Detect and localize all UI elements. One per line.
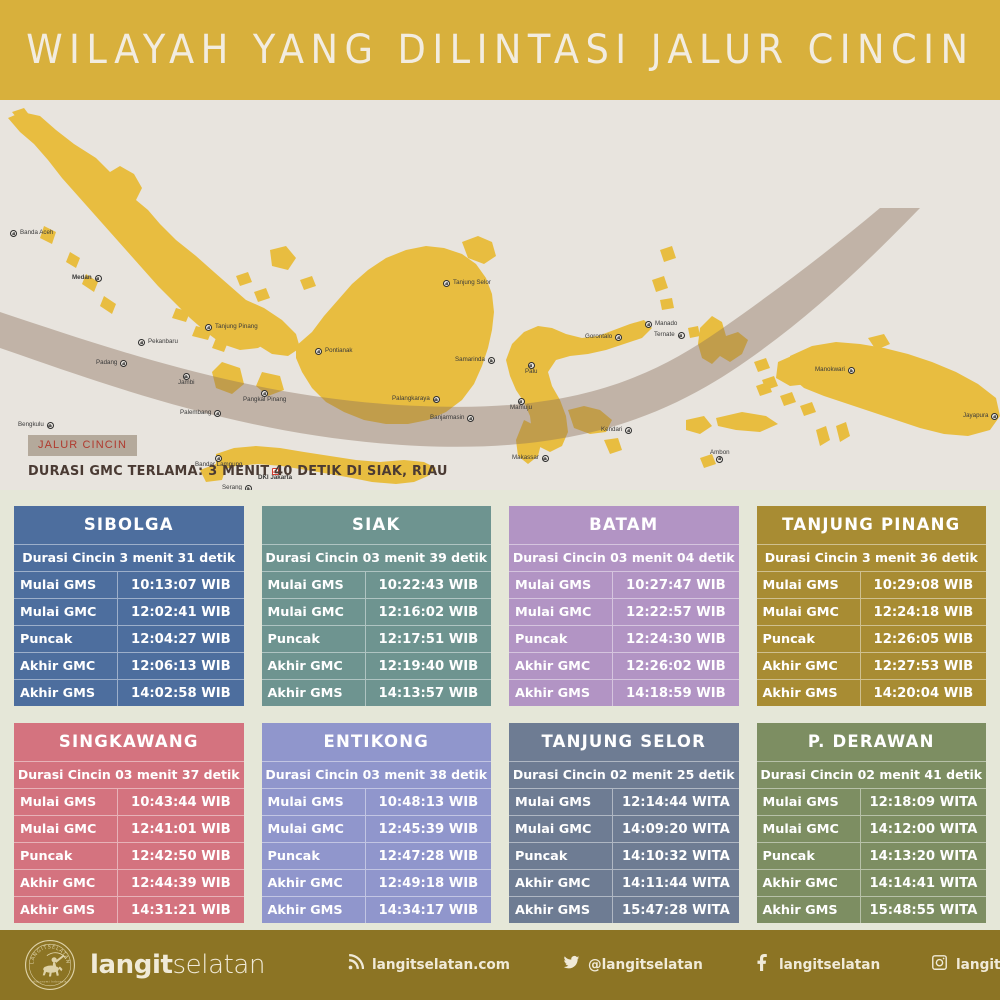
islands-aru	[816, 422, 850, 446]
row-label: Mulai GMC	[757, 822, 860, 837]
row-time-value: 10:27:47 WIB	[612, 572, 738, 598]
table-row: Akhir GMS14:20:04 WIB	[757, 679, 987, 706]
row-time-value: 12:02:41 WIB	[117, 599, 243, 625]
row-time-value: 10:22:43 WIB	[365, 572, 491, 598]
city-dot-icon	[716, 456, 723, 463]
city-label: Kendari	[601, 427, 622, 433]
brand-wordmark: langitselatan	[90, 950, 265, 980]
row-label: Mulai GMS	[509, 795, 612, 810]
map-city-marker: Serang	[222, 485, 252, 490]
social-link[interactable]: langitselatan.com	[347, 954, 519, 976]
legend-jalur-cincin: JALUR CINCIN	[28, 435, 137, 456]
map-city-marker: Banjarmasin	[430, 415, 474, 422]
city-label: Medan	[72, 275, 92, 281]
map-area: Banda AcehMedanPekanbaruPadangJambiPalem…	[0, 100, 1000, 490]
city-label: Manado	[655, 321, 677, 327]
row-time-value: 14:34:17 WIB	[365, 897, 491, 923]
twitter-icon	[563, 954, 580, 976]
city-dot-icon	[47, 422, 54, 429]
city-label: Jambi	[178, 380, 195, 386]
map-city-marker: Padang	[96, 360, 127, 367]
table-row: Akhir GMS14:18:59 WIB	[509, 679, 739, 706]
row-label: Puncak	[262, 632, 365, 647]
row-time-value: 12:19:40 WIB	[365, 653, 491, 679]
city-timing-cards: SIBOLGADurasi Cincin 3 menit 31 detikMul…	[0, 498, 1000, 930]
svg-text:LANGITSELATAN: LANGITSELATAN	[29, 944, 70, 964]
city-label: Pekanbaru	[148, 339, 178, 345]
card-duration: Durasi Cincin 3 menit 36 detik	[757, 544, 987, 571]
row-label: Mulai GMS	[262, 795, 365, 810]
card-duration: Durasi Cincin 03 menit 39 detik	[262, 544, 492, 571]
row-label: Akhir GMC	[262, 659, 365, 674]
card-duration: Durasi Cincin 3 menit 31 detik	[14, 544, 244, 571]
social-handle: @langitselatan	[588, 957, 703, 973]
row-time-value: 14:11:44 WITA	[612, 870, 738, 896]
city-dot-icon	[183, 373, 190, 380]
row-time-value: 14:12:00 WITA	[860, 816, 986, 842]
row-time-value: 15:48:55 WITA	[860, 897, 986, 923]
card-title: ENTIKONG	[262, 723, 492, 761]
map-city-marker: Pontianak	[315, 348, 353, 355]
row-label: Akhir GMS	[14, 686, 117, 701]
card-duration: Durasi Cincin 02 menit 25 detik	[509, 761, 739, 788]
city-dot-icon	[245, 485, 252, 490]
city-label: Mamuju	[510, 405, 532, 411]
row-label: Akhir GMS	[757, 903, 860, 918]
map-city-marker: Banda Aceh	[10, 230, 53, 237]
city-label: Pontianak	[325, 348, 353, 354]
table-row: Puncak12:42:50 WIB	[14, 842, 244, 869]
table-row: Mulai GMS10:22:43 WIB	[262, 571, 492, 598]
map-caption: DURASI GMC TERLAMA: 3 MENIT 40 DETIK DI …	[28, 463, 448, 479]
city-dot-icon	[615, 334, 622, 341]
row-label: Akhir GMS	[509, 686, 612, 701]
infographic-page: WILAYAH YANG DILINTASI JALUR CINCIN	[0, 0, 1000, 1000]
city-label: Banjarmasin	[430, 415, 464, 421]
timing-card: TANJUNG PINANGDurasi Cincin 3 menit 36 d…	[757, 506, 987, 706]
table-row: Akhir GMC12:06:13 WIB	[14, 652, 244, 679]
table-row: Akhir GMS14:13:57 WIB	[262, 679, 492, 706]
row-time-value: 12:14:44 WITA	[612, 789, 738, 815]
timing-card: ENTIKONGDurasi Cincin 03 menit 38 detikM…	[262, 723, 492, 923]
row-time-value: 14:13:20 WITA	[860, 843, 986, 869]
map-city-marker: Manokwari	[815, 367, 855, 374]
row-label: Mulai GMC	[14, 605, 117, 620]
row-time-value: 10:13:07 WIB	[117, 572, 243, 598]
row-time-value: 12:04:27 WIB	[117, 626, 243, 652]
row-time-value: 14:13:57 WIB	[365, 680, 491, 706]
city-label: Bengkulu	[18, 422, 44, 428]
table-row: Mulai GMS12:14:44 WITA	[509, 788, 739, 815]
map-city-marker: Gorontalo	[585, 334, 622, 341]
row-label: Puncak	[757, 632, 860, 647]
city-dot-icon	[120, 360, 127, 367]
row-label: Akhir GMS	[14, 903, 117, 918]
islands-rajaampat	[754, 358, 778, 390]
city-dot-icon	[528, 362, 535, 369]
island-ternate	[688, 326, 700, 338]
table-row: Puncak12:17:51 WIB	[262, 625, 492, 652]
social-link[interactable]: @langitselatan	[563, 954, 710, 976]
table-row: Puncak12:04:27 WIB	[14, 625, 244, 652]
row-time-value: 14:14:41 WITA	[860, 870, 986, 896]
page-title: WILAYAH YANG DILINTASI JALUR CINCIN	[26, 27, 974, 73]
row-label: Mulai GMS	[757, 578, 860, 593]
card-title: BATAM	[509, 506, 739, 544]
timing-card: BATAMDurasi Cincin 03 menit 04 detikMula…	[509, 506, 739, 706]
table-row: Akhir GMC12:44:39 WIB	[14, 869, 244, 896]
city-dot-icon	[991, 413, 998, 420]
card-duration: Durasi Cincin 03 menit 04 detik	[509, 544, 739, 571]
map-city-marker: Samarinda	[455, 357, 495, 364]
row-label: Puncak	[14, 632, 117, 647]
city-dot-icon	[467, 415, 474, 422]
map-city-marker: Jambi	[178, 373, 195, 388]
row-time-value: 14:09:20 WITA	[612, 816, 738, 842]
row-time-value: 15:47:28 WITA	[612, 897, 738, 923]
table-row: Mulai GMS10:13:07 WIB	[14, 571, 244, 598]
islands-anambas	[236, 272, 316, 302]
row-time-value: 10:43:44 WIB	[117, 789, 243, 815]
city-label: Gorontalo	[585, 334, 612, 340]
brand: LANGITSELATAN Astronomi Indonesia l	[24, 939, 265, 991]
social-links: langitselatan.com@langitselatanlangitsel…	[347, 954, 1000, 976]
row-label: Akhir GMS	[757, 686, 860, 701]
row-time-value: 12:06:13 WIB	[117, 653, 243, 679]
city-label: Ambon	[710, 450, 730, 456]
rss-icon	[347, 954, 364, 976]
row-time-value: 12:24:18 WIB	[860, 599, 986, 625]
timing-card: P. DERAWANDurasi Cincin 02 menit 41 deti…	[757, 723, 987, 923]
row-label: Mulai GMC	[262, 822, 365, 837]
table-row: Puncak14:10:32 WITA	[509, 842, 739, 869]
row-label: Mulai GMC	[757, 605, 860, 620]
row-label: Mulai GMC	[262, 605, 365, 620]
row-time-value: 14:20:04 WIB	[860, 680, 986, 706]
table-row: Mulai GMC14:09:20 WITA	[509, 815, 739, 842]
table-row: Puncak12:24:30 WIB	[509, 625, 739, 652]
row-time-value: 10:48:13 WIB	[365, 789, 491, 815]
card-title: TANJUNG PINANG	[757, 506, 987, 544]
social-link[interactable]: langitselatan	[754, 954, 887, 976]
table-row: Mulai GMC12:16:02 WIB	[262, 598, 492, 625]
card-title: SIBOLGA	[14, 506, 244, 544]
city-label: Jayapura	[963, 413, 988, 419]
row-time-value: 12:22:57 WIB	[612, 599, 738, 625]
brand-name-bold: langit	[90, 950, 173, 980]
table-row: Akhir GMC12:49:18 WIB	[262, 869, 492, 896]
city-label: Serang	[222, 485, 242, 490]
table-row: Puncak12:26:05 WIB	[757, 625, 987, 652]
map-city-marker: Palangkaraya	[392, 396, 440, 403]
table-row: Mulai GMC12:02:41 WIB	[14, 598, 244, 625]
city-label: Banda Aceh	[20, 230, 53, 236]
city-dot-icon	[443, 280, 450, 287]
card-duration: Durasi Cincin 03 menit 37 detik	[14, 761, 244, 788]
table-row: Akhir GMC14:14:41 WITA	[757, 869, 987, 896]
table-row: Mulai GMS10:27:47 WIB	[509, 571, 739, 598]
city-label: Palangkaraya	[392, 396, 430, 402]
timing-card: TANJUNG SELORDurasi Cincin 02 menit 25 d…	[509, 723, 739, 923]
table-row: Akhir GMS14:02:58 WIB	[14, 679, 244, 706]
city-dot-icon	[138, 339, 145, 346]
card-title: TANJUNG SELOR	[509, 723, 739, 761]
row-time-value: 10:29:08 WIB	[860, 572, 986, 598]
table-row: Akhir GMC12:27:53 WIB	[757, 652, 987, 679]
island-natuna	[270, 246, 296, 270]
city-dot-icon	[488, 357, 495, 364]
row-label: Puncak	[509, 849, 612, 864]
map-city-marker: Ambon	[710, 448, 730, 463]
social-handle: langitselatan.com	[372, 957, 510, 973]
city-label: Ternate	[654, 332, 675, 338]
table-row: Akhir GMC14:11:44 WITA	[509, 869, 739, 896]
table-row: Mulai GMC12:41:01 WIB	[14, 815, 244, 842]
table-row: Akhir GMC12:19:40 WIB	[262, 652, 492, 679]
table-row: Akhir GMS15:47:28 WITA	[509, 896, 739, 923]
row-label: Akhir GMC	[509, 876, 612, 891]
map-city-marker: Palu	[525, 362, 537, 377]
brand-name-light: selatan	[173, 950, 266, 980]
row-time-value: 12:26:02 WIB	[612, 653, 738, 679]
langitselatan-seal-logo: LANGITSELATAN Astronomi Indonesia	[24, 939, 76, 991]
centaur-archer-glyph	[43, 953, 66, 977]
row-label: Puncak	[509, 632, 612, 647]
map-city-marker: Tanjung Pinang	[205, 324, 258, 331]
city-label: Manokwari	[815, 367, 845, 373]
city-label: Tanjung Pinang	[215, 324, 258, 330]
city-dot-icon	[433, 396, 440, 403]
row-label: Mulai GMS	[509, 578, 612, 593]
table-row: Mulai GMC12:24:18 WIB	[757, 598, 987, 625]
row-label: Akhir GMS	[262, 903, 365, 918]
timing-card: SINGKAWANGDurasi Cincin 03 menit 37 deti…	[14, 723, 244, 923]
row-time-value: 14:31:21 WIB	[117, 897, 243, 923]
map-city-marker: Pangkal Pinang	[243, 390, 286, 405]
table-row: Puncak14:13:20 WITA	[757, 842, 987, 869]
table-row: Mulai GMC14:12:00 WITA	[757, 815, 987, 842]
social-handle: langitselatan	[779, 957, 880, 973]
card-title: SIAK	[262, 506, 492, 544]
instagram-icon	[931, 954, 948, 976]
row-label: Akhir GMS	[262, 686, 365, 701]
row-label: Mulai GMC	[509, 822, 612, 837]
city-dot-icon	[95, 275, 102, 282]
map-city-marker: Makassar	[512, 455, 549, 462]
card-duration: Durasi Cincin 02 menit 41 detik	[757, 761, 987, 788]
card-title: P. DERAWAN	[757, 723, 987, 761]
city-label: Makassar	[512, 455, 539, 461]
row-time-value: 12:45:39 WIB	[365, 816, 491, 842]
row-label: Akhir GMC	[14, 876, 117, 891]
city-dot-icon	[848, 367, 855, 374]
row-time-value: 12:49:18 WIB	[365, 870, 491, 896]
city-dot-icon	[542, 455, 549, 462]
table-row: Mulai GMS10:29:08 WIB	[757, 571, 987, 598]
city-label: Samarinda	[455, 357, 485, 363]
row-label: Akhir GMC	[262, 876, 365, 891]
table-row: Mulai GMS10:43:44 WIB	[14, 788, 244, 815]
timing-card: SIAKDurasi Cincin 03 menit 39 detikMulai…	[262, 506, 492, 706]
map-city-marker: Mamuju	[510, 398, 532, 413]
row-time-value: 12:41:01 WIB	[117, 816, 243, 842]
map-city-marker: Kendari	[601, 427, 632, 434]
table-row: Akhir GMC12:26:02 WIB	[509, 652, 739, 679]
table-row: Mulai GMC12:45:39 WIB	[262, 815, 492, 842]
city-label: Palembang	[180, 410, 211, 416]
row-time-value: 12:24:30 WIB	[612, 626, 738, 652]
city-dot-icon	[518, 398, 525, 405]
row-label: Akhir GMC	[509, 659, 612, 674]
row-time-value: 12:47:28 WIB	[365, 843, 491, 869]
table-row: Akhir GMS14:34:17 WIB	[262, 896, 492, 923]
city-dot-icon	[214, 410, 221, 417]
island-papua	[790, 342, 1000, 436]
social-handle: langitselatanmedia	[956, 957, 1000, 973]
map-city-marker: Manado	[645, 321, 677, 328]
city-dot-icon	[625, 427, 632, 434]
row-time-value: 12:18:09 WITA	[860, 789, 986, 815]
map-city-marker: Tanjung Selor	[443, 280, 491, 287]
city-dot-icon	[205, 324, 212, 331]
row-label: Akhir GMC	[757, 659, 860, 674]
map-city-marker: Bengkulu	[18, 422, 54, 429]
page-footer: LANGITSELATAN Astronomi Indonesia l	[0, 930, 1000, 1000]
row-label: Akhir GMC	[14, 659, 117, 674]
indonesia-map	[0, 100, 1000, 490]
facebook-icon	[754, 954, 771, 976]
table-row: Mulai GMS10:48:13 WIB	[262, 788, 492, 815]
row-label: Mulai GMC	[14, 822, 117, 837]
city-dot-icon	[10, 230, 17, 237]
row-label: Akhir GMS	[509, 903, 612, 918]
map-city-marker: Pekanbaru	[138, 339, 178, 346]
table-row: Puncak12:47:28 WIB	[262, 842, 492, 869]
table-row: Akhir GMS15:48:55 WITA	[757, 896, 987, 923]
row-label: Puncak	[262, 849, 365, 864]
island-buton	[604, 438, 622, 454]
island-buru	[686, 416, 712, 434]
row-label: Mulai GMS	[262, 578, 365, 593]
row-time-value: 12:16:02 WIB	[365, 599, 491, 625]
row-time-value: 14:18:59 WIB	[612, 680, 738, 706]
table-row: Akhir GMS14:31:21 WIB	[14, 896, 244, 923]
island-seram	[716, 412, 778, 432]
table-row: Mulai GMS12:18:09 WITA	[757, 788, 987, 815]
social-link[interactable]: langitselatanmedia	[931, 954, 1000, 976]
city-dot-icon	[315, 348, 322, 355]
map-city-marker: Ternate	[654, 332, 685, 339]
city-dot-icon	[645, 321, 652, 328]
row-time-value: 12:44:39 WIB	[117, 870, 243, 896]
map-city-marker: Medan	[72, 275, 102, 282]
timing-card: SIBOLGADurasi Cincin 3 menit 31 detikMul…	[14, 506, 244, 706]
row-label: Mulai GMS	[757, 795, 860, 810]
islands-maluku-n	[652, 246, 676, 310]
row-label: Puncak	[14, 849, 117, 864]
city-dot-icon	[678, 332, 685, 339]
city-label: Padang	[96, 360, 117, 366]
row-time-value: 12:27:53 WIB	[860, 653, 986, 679]
row-label: Mulai GMC	[509, 605, 612, 620]
city-label: Palu	[525, 369, 537, 375]
svg-text:Astronomi Indonesia: Astronomi Indonesia	[33, 980, 67, 984]
map-city-marker: Jayapura	[963, 413, 998, 420]
row-label: Akhir GMC	[757, 876, 860, 891]
row-label: Mulai GMS	[14, 795, 117, 810]
row-time-value: 12:42:50 WIB	[117, 843, 243, 869]
city-label: Pangkal Pinang	[243, 397, 286, 403]
row-time-value: 14:10:32 WITA	[612, 843, 738, 869]
row-time-value: 12:26:05 WIB	[860, 626, 986, 652]
page-header: WILAYAH YANG DILINTASI JALUR CINCIN	[0, 0, 1000, 100]
row-time-value: 12:17:51 WIB	[365, 626, 491, 652]
table-row: Mulai GMC12:22:57 WIB	[509, 598, 739, 625]
row-time-value: 14:02:58 WIB	[117, 680, 243, 706]
city-label: Tanjung Selor	[453, 280, 491, 286]
map-city-marker: Palembang	[180, 410, 221, 417]
row-label: Mulai GMS	[14, 578, 117, 593]
row-label: Puncak	[757, 849, 860, 864]
card-duration: Durasi Cincin 03 menit 38 detik	[262, 761, 492, 788]
card-title: SINGKAWANG	[14, 723, 244, 761]
islands-mentawai	[66, 252, 116, 314]
